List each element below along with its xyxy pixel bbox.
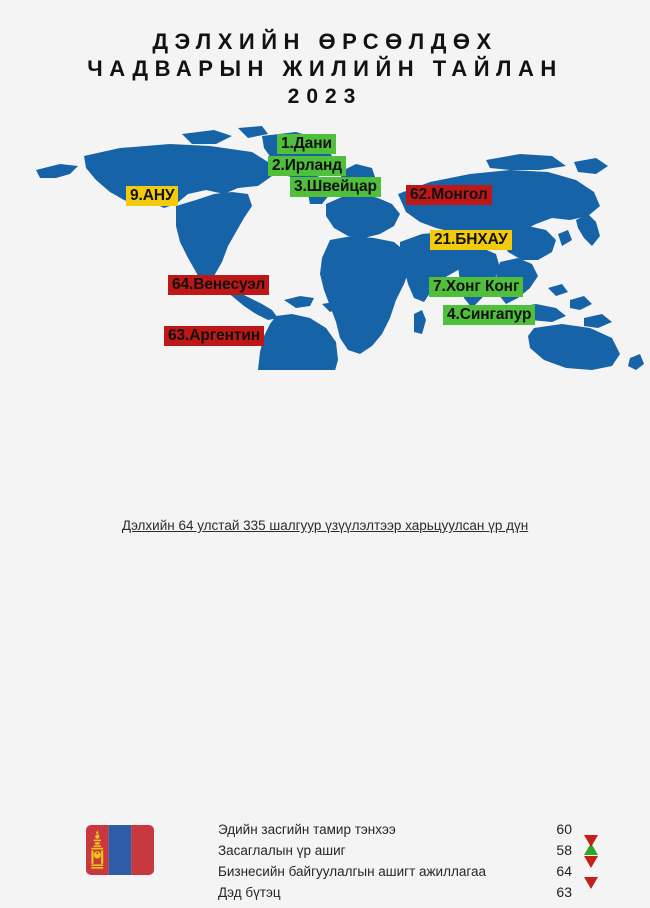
trend-down-icon bbox=[584, 887, 598, 899]
list-item: Дэд бүтэц 63 bbox=[218, 882, 598, 903]
list-item: Эдийн засгийн тамир тэнхээ 60 bbox=[218, 819, 598, 840]
map-label-switzerland[interactable]: 3.Швейцар bbox=[290, 177, 381, 197]
legend-value: 63 bbox=[538, 882, 572, 903]
list-item: Засаглалын үр ашиг 58 bbox=[218, 840, 598, 861]
map-label-ireland[interactable]: 2.Ирланд bbox=[268, 156, 346, 176]
list-item: Бизнесийн байгуулалгын ашигт ажиллагаа 6… bbox=[218, 861, 598, 882]
map-label-usa[interactable]: 9.АНУ bbox=[126, 186, 178, 206]
map-label-china[interactable]: 21.БНХАУ bbox=[430, 230, 512, 250]
mongolian-flag-icon bbox=[86, 825, 154, 875]
map-label-argentina[interactable]: 63.Аргентин bbox=[164, 326, 264, 346]
legend-label: Бизнесийн байгуулалгын ашигт ажиллагаа bbox=[218, 861, 486, 882]
indicator-legend: Эдийн засгийн тамир тэнхээ 60 Засаглалын… bbox=[218, 819, 598, 903]
legend-label: Дэд бүтэц bbox=[218, 882, 281, 903]
legend-label: Засаглалын үр ашиг bbox=[218, 840, 346, 861]
footer-note: Дэлхийн 64 улстай 335 шалгуур үзүүлэлтээ… bbox=[122, 518, 528, 533]
legend-value: 64 bbox=[538, 861, 572, 882]
map-label-mongolia[interactable]: 62.Монгол bbox=[406, 185, 492, 205]
map-label-denmark[interactable]: 1.Дани bbox=[277, 134, 336, 154]
world-map-container: 1.Дани 2.Ирланд 3.Швейцар 9.АНУ 62.Монго… bbox=[0, 122, 650, 370]
title-line-1: ДЭЛХИЙН ӨРСӨЛДӨХ bbox=[0, 28, 650, 55]
legend-label: Эдийн засгийн тамир тэнхээ bbox=[218, 819, 396, 840]
map-label-hongkong[interactable]: 7.Хонг Конг bbox=[429, 277, 523, 297]
map-label-venezuela[interactable]: 64.Венесуэл bbox=[168, 275, 269, 295]
title-line-2: ЧАДВАРЫН ЖИЛИЙН ТАЙЛАН bbox=[0, 55, 650, 82]
legend-value: 58 bbox=[538, 840, 572, 861]
map-label-singapore[interactable]: 4.Сингапур bbox=[443, 305, 535, 325]
legend-value: 60 bbox=[538, 819, 572, 840]
footer: Дэлхийн 64 улстай 335 шалгуур үзүүлэлтээ… bbox=[0, 517, 650, 535]
title-year: 2023 bbox=[0, 82, 650, 112]
page-title: ДЭЛХИЙН ӨРСӨЛДӨХ ЧАДВАРЫН ЖИЛИЙН ТАЙЛАН … bbox=[0, 28, 650, 112]
